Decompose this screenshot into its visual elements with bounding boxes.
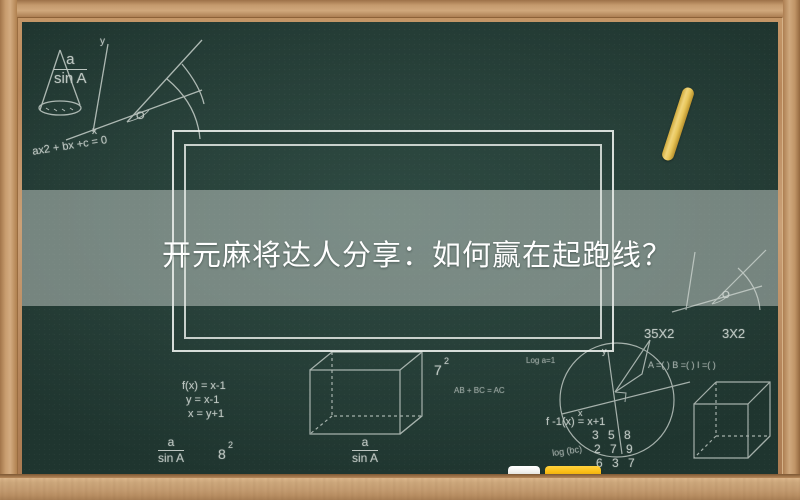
matrix-row-1: 3 5 8 — [592, 428, 634, 442]
frame-top-rail — [0, 0, 800, 17]
axis-label-x-topleft: x — [92, 126, 97, 137]
axis-label-y-topleft: y — [100, 36, 105, 47]
cube-center-drawing — [310, 352, 422, 434]
eight-squared-base: 8 — [218, 446, 226, 462]
cube-right-drawing — [694, 382, 770, 458]
seven-squared-base: 7 — [434, 362, 442, 378]
eight-squared-exponent: 2 — [228, 440, 233, 450]
matrix-row-2: 2 7 9 — [594, 442, 636, 456]
axis-label-x-right: x — [578, 408, 583, 418]
fx-line-1: f(x) = x-1 — [182, 380, 226, 392]
log-expression-text: log (bc) — [551, 444, 582, 458]
chalkboard-screenshot: a sin A y x O ax2 + bx +c = 0 f(x) = x-1… — [0, 0, 800, 500]
matrix-row-3: 6 3 7 — [596, 456, 638, 470]
log-small-text: Log a=1 — [526, 356, 555, 365]
fx-line-2: y = x-1 — [186, 394, 219, 406]
frame-left-rail — [0, 0, 17, 500]
fraction-a-over-sinA-topleft: a sin A — [54, 52, 87, 87]
circle-axes-drawing — [560, 340, 690, 457]
chalk-ledge — [0, 478, 800, 500]
inverse-function-text: f -1(x) = x+1 — [546, 416, 605, 428]
page-title: 开元麻将达人分享：如何赢在起跑线？ — [162, 232, 672, 274]
fx-line-3: x = y+1 — [188, 408, 224, 420]
fraction-a-over-sinA-center: a sin A — [352, 436, 378, 464]
quadratic-equation-text: ax2 + bx +c = 0 — [32, 134, 108, 158]
vector-addition-text: AB + BC = AC — [454, 386, 505, 395]
dimension-label-3x2: 3X2 — [722, 326, 745, 341]
angle-diagram-topleft — [66, 40, 204, 140]
matrix-definitions-text: A =( ) B =( ) I =( ) — [648, 360, 716, 370]
seven-squared-exponent: 2 — [444, 356, 449, 366]
frame-right-rail — [783, 0, 800, 500]
dimension-label-35x2: 35X2 — [644, 326, 674, 341]
angle-label-o-topleft: O — [136, 110, 145, 122]
fraction-a-over-sinA-bottomleft: a sin A — [158, 436, 184, 464]
